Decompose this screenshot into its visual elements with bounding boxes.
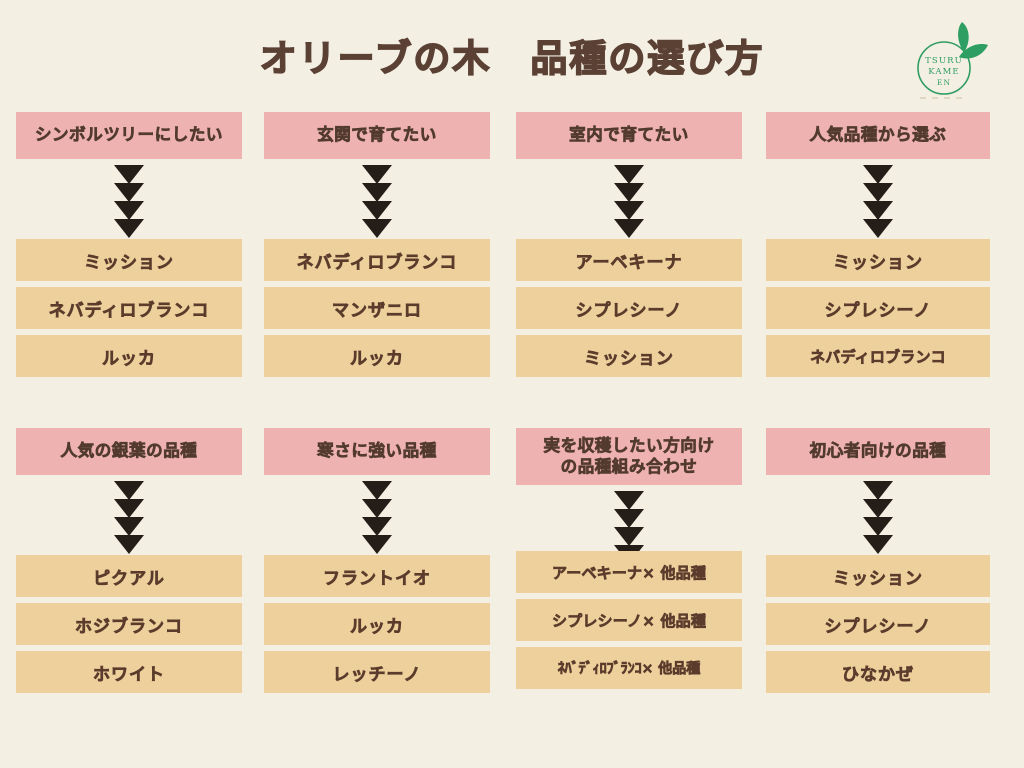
card-title: 玄関で育てたい [264, 112, 490, 159]
option-item[interactable]: ミッション [766, 555, 990, 597]
chevron-down-icon [614, 491, 644, 510]
option-item[interactable]: ミッション [516, 335, 742, 377]
chevron-down-icon [863, 481, 893, 500]
card-title: シンボルツリーにしたい [16, 112, 242, 159]
option-item[interactable]: ネバディロブランコ [766, 335, 990, 377]
chevron-down-icon [362, 201, 392, 220]
card-entrance[interactable]: 玄関で育てたい ネバディロブランコ マンザニロ ルッカ [264, 112, 490, 377]
option-item[interactable]: ルッカ [264, 603, 490, 645]
page-header: オリーブの木 品種の選び方 TSURU KAME EN [0, 0, 1024, 104]
card-title: 室内で育てたい [516, 112, 742, 159]
option-list: アーベキーナ シプレシーノ ミッション [516, 239, 742, 377]
arrow-stack [264, 475, 490, 555]
chevron-down-icon [362, 183, 392, 202]
chevron-down-icon [614, 509, 644, 528]
option-item[interactable]: シプレシーノ [766, 287, 990, 329]
chevron-down-icon [614, 201, 644, 220]
card-title-line: 初心者向けの品種 [810, 441, 947, 462]
chevron-down-icon [114, 499, 144, 518]
chevron-down-icon [362, 517, 392, 536]
option-item[interactable]: ミッション [766, 239, 990, 281]
arrow-stack [16, 159, 242, 239]
chevron-down-icon [614, 527, 644, 546]
card-popular[interactable]: 人気品種から選ぶ ミッション シプレシーノ ネバディロブランコ [766, 112, 990, 377]
option-item[interactable]: ﾈﾊﾞﾃﾞｨﾛﾌﾞﾗﾝｺ× 他品種 [516, 647, 742, 689]
logo-line-3: EN [937, 78, 951, 87]
chevron-down-icon [863, 499, 893, 518]
arrow-stack [766, 475, 990, 555]
option-item[interactable]: シプレシーノ [766, 603, 990, 645]
card-title-line: 室内で育てたい [569, 125, 689, 146]
card-title-line: の品種組み合わせ [544, 457, 715, 478]
option-item[interactable]: ホワイト [16, 651, 242, 693]
option-item[interactable]: ネバディロブランコ [264, 239, 490, 281]
option-item[interactable]: ネバディロブランコ [16, 287, 242, 329]
option-item[interactable]: マンザニロ [264, 287, 490, 329]
chevron-down-icon [362, 499, 392, 518]
option-item[interactable]: シプレシーノ× 他品種 [516, 599, 742, 641]
option-item[interactable]: アーベキーナ× 他品種 [516, 551, 742, 593]
option-item[interactable]: フラントイオ [264, 555, 490, 597]
card-title-line: 人気品種から選ぶ [810, 125, 947, 146]
option-item[interactable]: ルッカ [16, 335, 242, 377]
chevron-down-icon [114, 165, 144, 184]
card-title: 初心者向けの品種 [766, 428, 990, 475]
chevron-down-icon [362, 219, 392, 238]
chevron-down-icon [114, 481, 144, 500]
option-item[interactable]: レッチーノ [264, 651, 490, 693]
card-cold-hardy[interactable]: 寒さに強い品種 フラントイオ ルッカ レッチーノ [264, 428, 490, 693]
arrow-stack [516, 485, 742, 551]
chevron-down-icon [362, 481, 392, 500]
chevron-down-icon [863, 535, 893, 554]
option-item[interactable]: ルッカ [264, 335, 490, 377]
page-title: オリーブの木 品種の選び方 [0, 28, 1024, 82]
chevron-down-icon [114, 517, 144, 536]
card-title-line: 人気の銀葉の品種 [61, 441, 198, 462]
logo-line-2: KAME [928, 67, 959, 77]
option-list: ピクアル ホジブランコ ホワイト [16, 555, 242, 693]
chevron-down-icon [114, 183, 144, 202]
chevron-down-icon [863, 219, 893, 238]
card-indoor[interactable]: 室内で育てたい アーベキーナ シプレシーノ ミッション [516, 112, 742, 377]
chevron-down-icon [863, 517, 893, 536]
option-item[interactable]: ピクアル [16, 555, 242, 597]
card-title: 寒さに強い品種 [264, 428, 490, 475]
arrow-stack [516, 159, 742, 239]
chevron-down-icon [114, 535, 144, 554]
chevron-down-icon [114, 201, 144, 220]
card-row-1: シンボルツリーにしたい ミッション ネバディロブランコ ルッカ 玄関で育てたい [0, 112, 1024, 412]
card-symbol-tree[interactable]: シンボルツリーにしたい ミッション ネバディロブランコ ルッカ [16, 112, 242, 377]
chevron-down-icon [362, 165, 392, 184]
brand-logo: TSURU KAME EN [902, 12, 998, 100]
chevron-down-icon [614, 165, 644, 184]
card-title-line: 実を収穫したい方向け [544, 436, 715, 457]
option-list: ミッション シプレシーノ ネバディロブランコ [766, 239, 990, 377]
option-item[interactable]: シプレシーノ [516, 287, 742, 329]
option-list: ネバディロブランコ マンザニロ ルッカ [264, 239, 490, 377]
card-title-line: 玄関で育てたい [317, 125, 437, 146]
card-title: 人気の銀葉の品種 [16, 428, 242, 475]
chevron-down-icon [614, 219, 644, 238]
option-item[interactable]: アーベキーナ [516, 239, 742, 281]
chevron-down-icon [362, 535, 392, 554]
option-list: ミッション ネバディロブランコ ルッカ [16, 239, 242, 377]
arrow-stack [264, 159, 490, 239]
tsurukamen-logo-icon: TSURU KAME EN [902, 12, 998, 100]
option-list: アーベキーナ× 他品種 シプレシーノ× 他品種 ﾈﾊﾞﾃﾞｨﾛﾌﾞﾗﾝｺ× 他品… [516, 551, 742, 689]
option-item[interactable]: ミッション [16, 239, 242, 281]
card-fruit-harvest[interactable]: 実を収穫したい方向け の品種組み合わせ アーベキーナ× 他品種 シプレシーノ× … [516, 428, 742, 689]
arrow-stack [16, 475, 242, 555]
card-row-2: 人気の銀葉の品種 ピクアル ホジブランコ ホワイト 寒さに強い品種 [0, 428, 1024, 728]
chevron-down-icon [114, 219, 144, 238]
chevron-down-icon [614, 183, 644, 202]
card-title: 人気品種から選ぶ [766, 112, 990, 159]
option-item[interactable]: ひなかぜ [766, 651, 990, 693]
chevron-down-icon [863, 165, 893, 184]
card-title-line: 寒さに強い品種 [317, 441, 437, 462]
card-beginner[interactable]: 初心者向けの品種 ミッション シプレシーノ ひなかぜ [766, 428, 990, 693]
chevron-down-icon [863, 183, 893, 202]
cards-board: シンボルツリーにしたい ミッション ネバディロブランコ ルッカ 玄関で育てたい [0, 104, 1024, 768]
card-title: 実を収穫したい方向け の品種組み合わせ [516, 428, 742, 485]
arrow-stack [766, 159, 990, 239]
card-title-line: シンボルツリーにしたい [35, 125, 223, 146]
chevron-down-icon [863, 201, 893, 220]
option-list: フラントイオ ルッカ レッチーノ [264, 555, 490, 693]
logo-line-1: TSURU [925, 56, 963, 66]
option-item[interactable]: ホジブランコ [16, 603, 242, 645]
option-list: ミッション シプレシーノ ひなかぜ [766, 555, 990, 693]
card-silver-leaf[interactable]: 人気の銀葉の品種 ピクアル ホジブランコ ホワイト [16, 428, 242, 693]
